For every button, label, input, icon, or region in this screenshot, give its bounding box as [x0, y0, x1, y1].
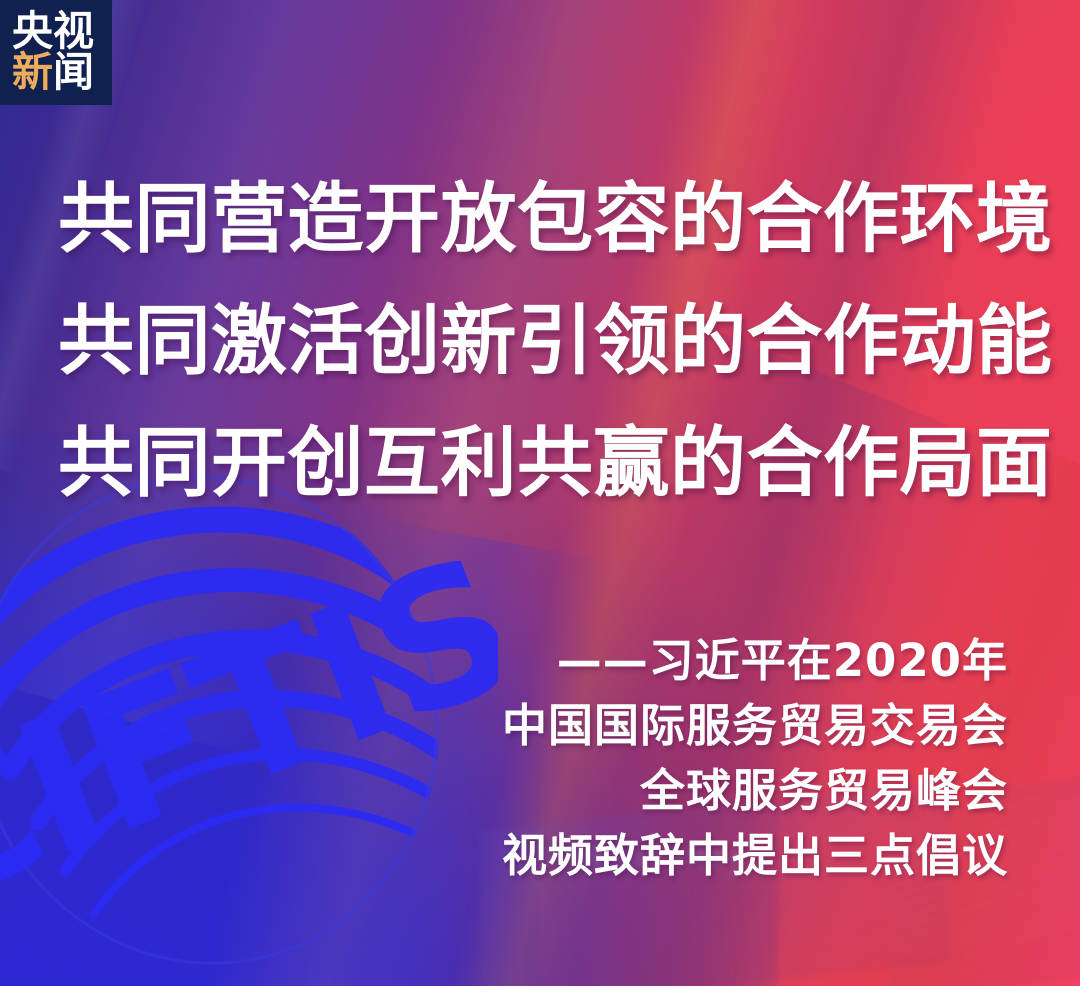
poster-root: 中国文化产业博览会 CHINA CULTURAL INDUSTRIES EXPO	[0, 0, 1080, 986]
headline-line-3: 共同开创互利共赢的合作局面	[58, 402, 1028, 524]
logo-char-xin: 新	[12, 52, 53, 93]
headline-block: 共同营造开放包容的合作环境 共同激活创新引领的合作动能 共同开创互利共赢的合作局…	[58, 158, 1028, 524]
attribution-line-1: ——习近平在2020年	[502, 628, 1008, 693]
attribution-block: ——习近平在2020年 中国国际服务贸易交易会 全球服务贸易峰会 视频致辞中提出…	[502, 628, 1008, 888]
headline-line-1: 共同营造开放包容的合作环境	[58, 158, 1028, 280]
attribution-line-3: 全球服务贸易峰会	[502, 758, 1008, 823]
headline-line-2: 共同激活创新引领的合作动能	[58, 280, 1028, 402]
logo-line-2: 新 闻	[12, 52, 102, 93]
cctv-news-logo: 央 视 新 闻	[0, 0, 112, 105]
logo-line-1: 央 视	[12, 11, 102, 52]
ciftis-logo: CIFTIS	[0, 470, 498, 986]
attribution-line-4: 视频致辞中提出三点倡议	[502, 823, 1008, 888]
attribution-line-2: 中国国际服务贸易交易会	[502, 693, 1008, 758]
logo-char-wen: 闻	[53, 52, 94, 93]
logo-char-yang: 央	[12, 11, 53, 52]
logo-char-shi: 视	[53, 11, 94, 52]
